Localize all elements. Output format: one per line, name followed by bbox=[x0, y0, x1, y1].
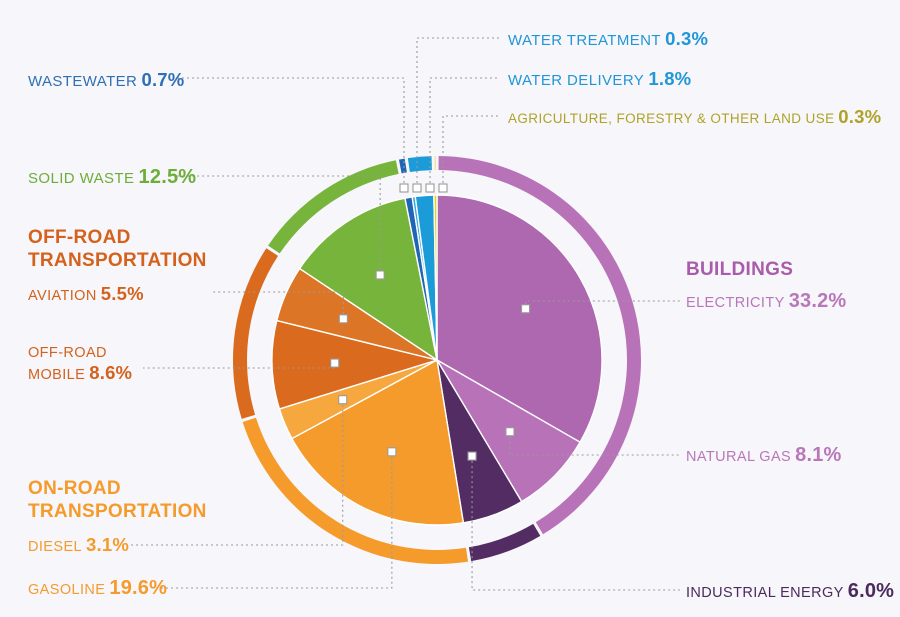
group-heading-off-road-transportation: OFF-ROAD TRANSPORTATION bbox=[28, 227, 207, 273]
group-off-road-line2: TRANSPORTATION bbox=[28, 250, 207, 273]
ring-arc-water[interactable] bbox=[408, 156, 432, 172]
label-agriculture-name: AGRICULTURE, FORESTRY & OTHER LAND USE bbox=[508, 111, 835, 126]
label-natural-gas-pct: 8.1% bbox=[795, 444, 841, 466]
label-wastewater-name: WASTEWATER bbox=[28, 73, 137, 90]
group-buildings-line1: BUILDINGS bbox=[686, 259, 793, 281]
slice-marker-off-road-mobile[interactable] bbox=[331, 359, 339, 367]
label-wastewater[interactable]: WASTEWATER 0.7% bbox=[28, 69, 184, 91]
group-heading-buildings: BUILDINGS bbox=[686, 259, 793, 281]
label-water-treatment-pct: 0.3% bbox=[665, 28, 708, 49]
slice-marker-diesel[interactable] bbox=[339, 396, 347, 404]
slice-marker-natural-gas[interactable] bbox=[506, 428, 514, 436]
label-agriculture-pct: 0.3% bbox=[838, 106, 881, 127]
label-water-delivery[interactable]: WATER DELIVERY 1.8% bbox=[508, 68, 691, 90]
slice-marker-gasoline[interactable] bbox=[388, 448, 396, 456]
label-agriculture[interactable]: AGRICULTURE, FORESTRY & OTHER LAND USE 0… bbox=[508, 106, 881, 128]
label-industrial-energy-name: INDUSTRIAL ENERGY bbox=[686, 585, 844, 601]
label-gasoline[interactable]: GASOLINE 19.6% bbox=[28, 577, 167, 601]
label-solid-waste-pct: 12.5% bbox=[139, 166, 197, 188]
label-off-road-mobile[interactable]: OFF-ROAD MOBILE 8.6% bbox=[28, 345, 132, 385]
slice-marker-water-treatment[interactable] bbox=[413, 184, 421, 192]
label-diesel-name: DIESEL bbox=[28, 539, 82, 555]
label-off-road-mobile-name-l2: MOBILE bbox=[28, 367, 85, 383]
label-electricity[interactable]: ELECTRICITY 33.2% bbox=[686, 290, 846, 314]
group-on-road-line2: TRANSPORTATION bbox=[28, 501, 207, 524]
slice-marker-aviation[interactable] bbox=[339, 315, 347, 323]
slice-marker-wastewater[interactable] bbox=[400, 184, 408, 192]
infographic-canvas: WASTEWATER 0.7% SOLID WASTE 12.5% OFF-RO… bbox=[0, 0, 900, 617]
label-solid-waste[interactable]: SOLID WASTE 12.5% bbox=[28, 166, 196, 190]
ring-arc-industrial-energy[interactable] bbox=[469, 524, 540, 561]
label-wastewater-pct: 0.7% bbox=[141, 69, 184, 90]
slice-marker-agriculture[interactable] bbox=[439, 184, 447, 192]
slice-marker-electricity[interactable] bbox=[522, 305, 530, 313]
label-water-delivery-pct: 1.8% bbox=[648, 68, 691, 89]
label-electricity-pct: 33.2% bbox=[789, 290, 847, 312]
label-aviation[interactable]: AVIATION 5.5% bbox=[28, 283, 144, 305]
slice-marker-industrial-energy[interactable] bbox=[468, 452, 476, 460]
label-off-road-mobile-pct: 8.6% bbox=[89, 362, 132, 383]
label-water-treatment-name: WATER TREATMENT bbox=[508, 32, 661, 49]
label-water-delivery-name: WATER DELIVERY bbox=[508, 72, 644, 89]
label-diesel[interactable]: DIESEL 3.1% bbox=[28, 534, 129, 556]
label-industrial-energy[interactable]: INDUSTRIAL ENERGY 6.0% bbox=[686, 580, 894, 604]
slice-marker-solid-waste[interactable] bbox=[376, 271, 384, 279]
ring-arc-off-road[interactable] bbox=[233, 248, 278, 419]
label-diesel-pct: 3.1% bbox=[86, 534, 129, 555]
label-natural-gas[interactable]: NATURAL GAS 8.1% bbox=[686, 444, 842, 468]
ring-arc-agriculture[interactable] bbox=[435, 156, 436, 170]
label-water-treatment[interactable]: WATER TREATMENT 0.3% bbox=[508, 28, 708, 50]
label-aviation-name: AVIATION bbox=[28, 288, 97, 304]
label-electricity-name: ELECTRICITY bbox=[686, 295, 785, 311]
label-gasoline-name: GASOLINE bbox=[28, 582, 105, 598]
ring-arc-wastewater[interactable] bbox=[399, 159, 407, 174]
group-off-road-line1: OFF-ROAD bbox=[28, 227, 207, 250]
slice-marker-water-delivery[interactable] bbox=[426, 184, 434, 192]
label-aviation-pct: 5.5% bbox=[101, 283, 144, 304]
label-natural-gas-name: NATURAL GAS bbox=[686, 449, 791, 465]
label-gasoline-pct: 19.6% bbox=[109, 577, 167, 599]
label-off-road-mobile-name-l1: OFF-ROAD bbox=[28, 345, 132, 362]
pie-slice-group bbox=[272, 195, 602, 525]
group-heading-on-road-transportation: ON-ROAD TRANSPORTATION bbox=[28, 478, 207, 524]
label-solid-waste-name: SOLID WASTE bbox=[28, 170, 134, 187]
label-industrial-energy-pct: 6.0% bbox=[848, 580, 894, 602]
group-on-road-line1: ON-ROAD bbox=[28, 478, 207, 501]
